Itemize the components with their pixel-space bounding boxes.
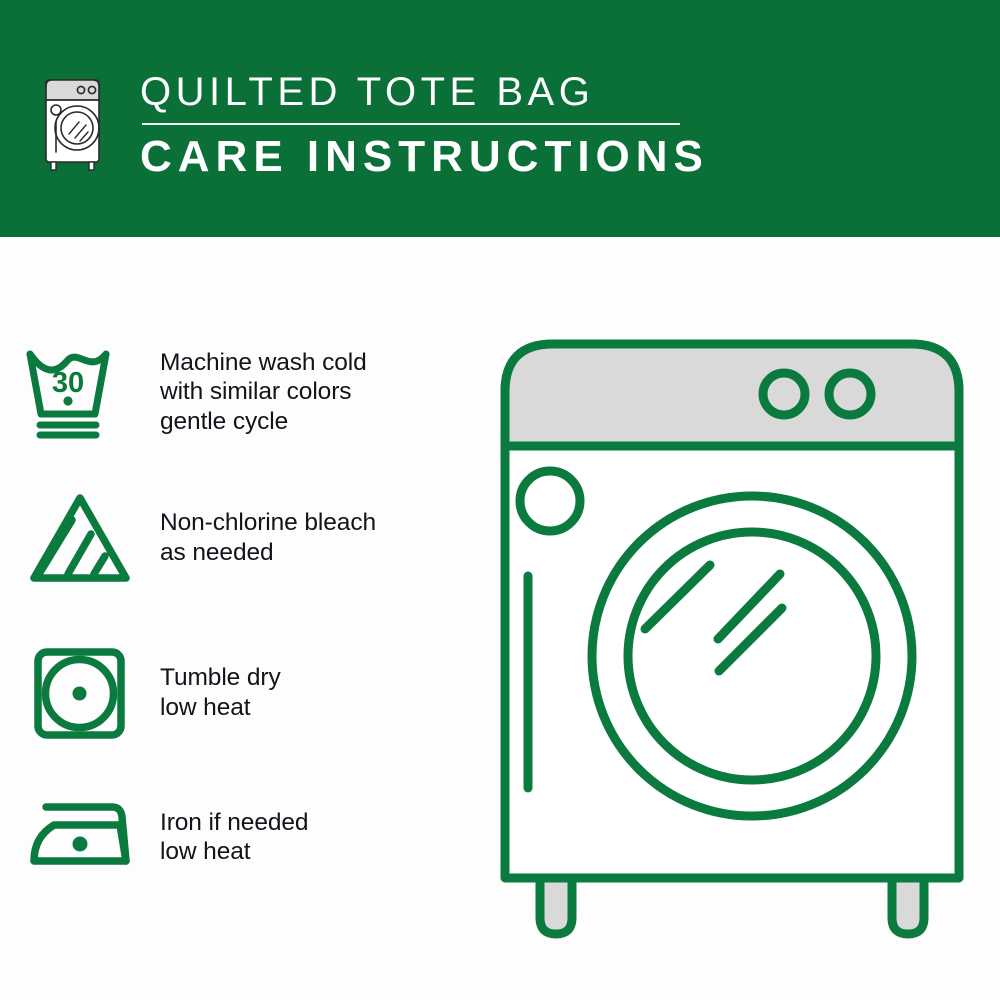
care-text-line: low heat — [160, 837, 308, 867]
care-item-bleach: Non-chlorine bleach as needed — [0, 485, 470, 590]
title-divider — [142, 123, 680, 125]
care-instruction-list: 30 Machine wash cold with similar colors… — [0, 237, 470, 1000]
care-text-line: Non-chlorine bleach — [160, 508, 376, 538]
care-item-text: Tumble dry low heat — [160, 663, 281, 722]
care-item-text: Machine wash cold with similar colors ge… — [160, 348, 367, 437]
washing-machine-icon — [43, 68, 105, 173]
front-load-washing-machine-illustration — [482, 326, 982, 946]
care-text-line: as needed — [160, 538, 376, 568]
care-text-line: gentle cycle — [160, 407, 367, 437]
care-item-text: Non-chlorine bleach as needed — [160, 508, 376, 567]
wash-tub-30-gentle-icon: 30 — [0, 337, 160, 447]
page-title-product: QUILTED TOTE BAG — [140, 68, 740, 116]
non-chlorine-bleach-triangle-icon — [0, 485, 160, 590]
care-text-line: low heat — [160, 693, 281, 723]
wash-temperature-label: 30 — [52, 367, 84, 399]
page-title-care: CARE INSTRUCTIONS — [140, 131, 740, 183]
tumble-dry-low-heat-icon — [0, 635, 160, 750]
care-text-line: Machine wash cold — [160, 348, 367, 378]
care-instructions-page: QUILTED TOTE BAG CARE INSTRUCTIONS 30 — [0, 0, 1000, 1000]
care-text-line: Tumble dry — [160, 663, 281, 693]
care-item-tumble-dry: Tumble dry low heat — [0, 635, 470, 750]
care-item-machine-wash: 30 Machine wash cold with similar colors… — [0, 337, 470, 447]
care-item-iron: Iron if needed low heat — [0, 787, 470, 887]
care-text-line: with similar colors — [160, 377, 367, 407]
care-text-line: Iron if needed — [160, 808, 308, 838]
header-text-block: QUILTED TOTE BAG CARE INSTRUCTIONS — [140, 68, 740, 183]
header-band: QUILTED TOTE BAG CARE INSTRUCTIONS — [0, 0, 1000, 237]
iron-low-heat-icon — [0, 787, 160, 887]
care-item-text: Iron if needed low heat — [160, 808, 308, 867]
